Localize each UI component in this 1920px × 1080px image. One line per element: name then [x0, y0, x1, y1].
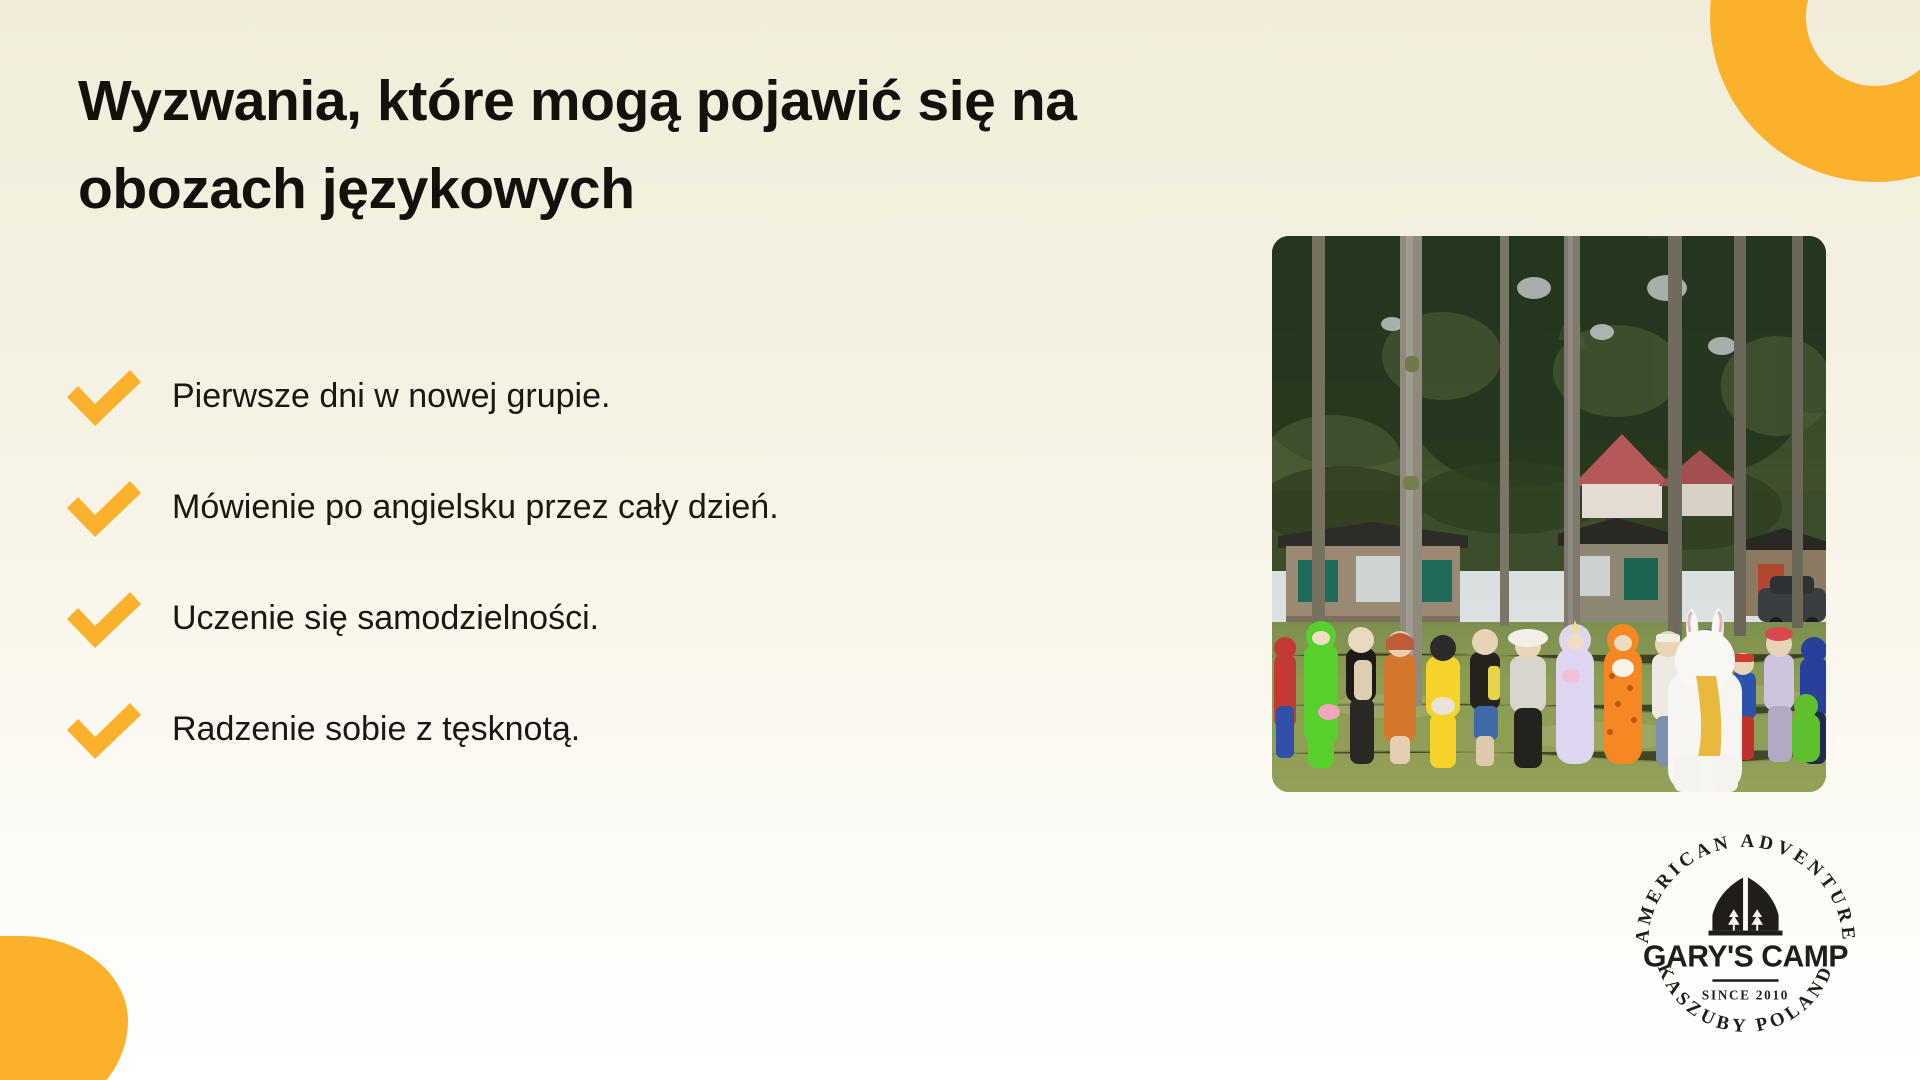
- bullet-list: Pierwsze dni w nowej grupie. Mówienie po…: [62, 358, 1172, 769]
- slide-canvas: Wyzwania, które mogą pojawić się na oboz…: [0, 0, 1920, 1080]
- camp-photo-illustration: [1272, 236, 1826, 792]
- bottom-left-blob-decoration: [0, 936, 128, 1080]
- top-right-arc-decoration: [1710, 0, 1920, 182]
- page-title: Wyzwania, które mogą pojawić się na oboz…: [78, 58, 1208, 234]
- list-item: Mówienie po angielsku przez cały dzień.: [62, 469, 1172, 547]
- logo-since-text: SINCE 2010: [1702, 988, 1789, 1003]
- logo-emblem: AMERICAN ADVENTURE GARY'S CAMP SINCE 201…: [1619, 808, 1872, 1061]
- check-icon: [62, 477, 146, 539]
- check-icon: [62, 588, 146, 650]
- camp-photo: [1272, 236, 1826, 792]
- logo-divider: [1712, 979, 1778, 982]
- check-icon: [62, 699, 146, 761]
- list-item-label: Pierwsze dni w nowej grupie.: [172, 374, 610, 420]
- list-item: Radzenie sobie z tęsknotą.: [62, 691, 1172, 769]
- tent-with-trees-icon: [1709, 876, 1783, 935]
- list-item-label: Radzenie sobie z tęsknotą.: [172, 707, 580, 753]
- check-icon: [62, 366, 146, 428]
- list-item: Pierwsze dni w nowej grupie.: [62, 358, 1172, 436]
- list-item-label: Mówienie po angielsku przez cały dzień.: [172, 485, 779, 531]
- list-item: Uczenie się samodzielności.: [62, 580, 1172, 658]
- gary-s-camp-logo: AMERICAN ADVENTURE GARY'S CAMP SINCE 201…: [1619, 808, 1872, 1061]
- list-item-label: Uczenie się samodzielności.: [172, 596, 599, 642]
